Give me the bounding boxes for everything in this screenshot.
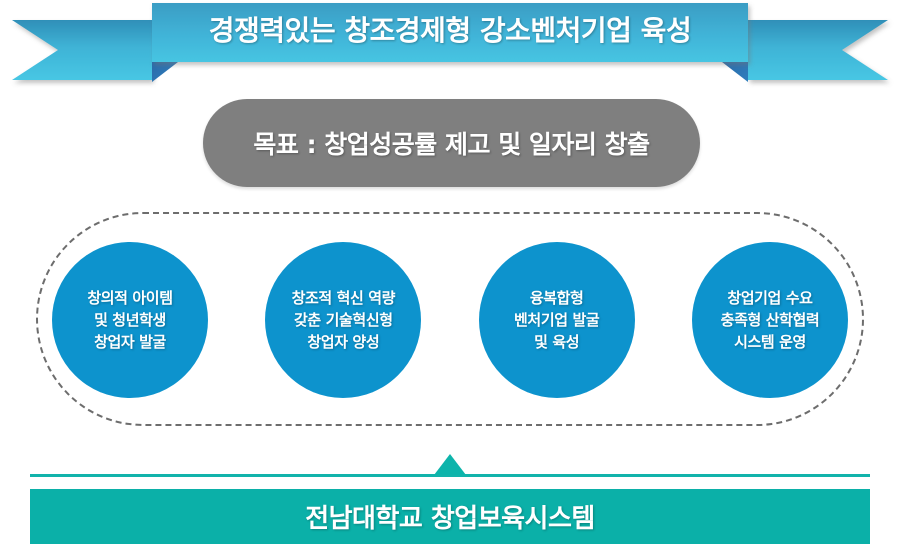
pillar-label-2: 창조적 혁신 역량 갖춘 기술혁신형 창업자 양성 bbox=[292, 287, 395, 353]
ribbon-fold-left bbox=[152, 62, 178, 82]
goal-pill: 목표 : 창업성공률 제고 및 일자리 창출 bbox=[203, 99, 700, 187]
footer-label: 전남대학교 창업보육시스템 bbox=[305, 498, 595, 535]
up-triangle-arrow-icon bbox=[434, 454, 466, 475]
footer-bar: 전남대학교 창업보육시스템 bbox=[30, 489, 870, 544]
goal-label: 목표 : 창업성공률 제고 및 일자리 창출 bbox=[253, 125, 649, 161]
pillar-circle-3[interactable]: 융복합형 벤처기업 발굴 및 육성 bbox=[479, 242, 635, 398]
diagram-canvas: 경쟁력있는 창조경제형 강소벤처기업 육성 목표 : 창업성공률 제고 및 일자… bbox=[0, 0, 900, 552]
pillar-circle-1[interactable]: 창의적 아이템 및 청년학생 창업자 발굴 bbox=[52, 242, 208, 398]
ribbon-banner: 경쟁력있는 창조경제형 강소벤처기업 육성 bbox=[0, 0, 900, 92]
pillar-circle-4[interactable]: 창업기업 수요 충족형 산학협력 시스템 운영 bbox=[692, 242, 848, 398]
connector-group bbox=[30, 452, 870, 482]
banner-title: 경쟁력있는 창조경제형 강소벤처기업 육성 bbox=[0, 12, 900, 50]
pillar-label-4: 창업기업 수요 충족형 산학협력 시스템 운영 bbox=[721, 287, 820, 353]
pillar-label-3: 융복합형 벤처기업 발굴 및 육성 bbox=[514, 287, 599, 353]
pillar-circle-row: 창의적 아이템 및 청년학생 창업자 발굴 창조적 혁신 역량 갖춘 기술혁신형… bbox=[52, 242, 848, 398]
ribbon-fold-right bbox=[722, 62, 748, 82]
pillar-circle-2[interactable]: 창조적 혁신 역량 갖춘 기술혁신형 창업자 양성 bbox=[265, 242, 421, 398]
pillar-label-1: 창의적 아이템 및 청년학생 창업자 발굴 bbox=[87, 287, 172, 353]
